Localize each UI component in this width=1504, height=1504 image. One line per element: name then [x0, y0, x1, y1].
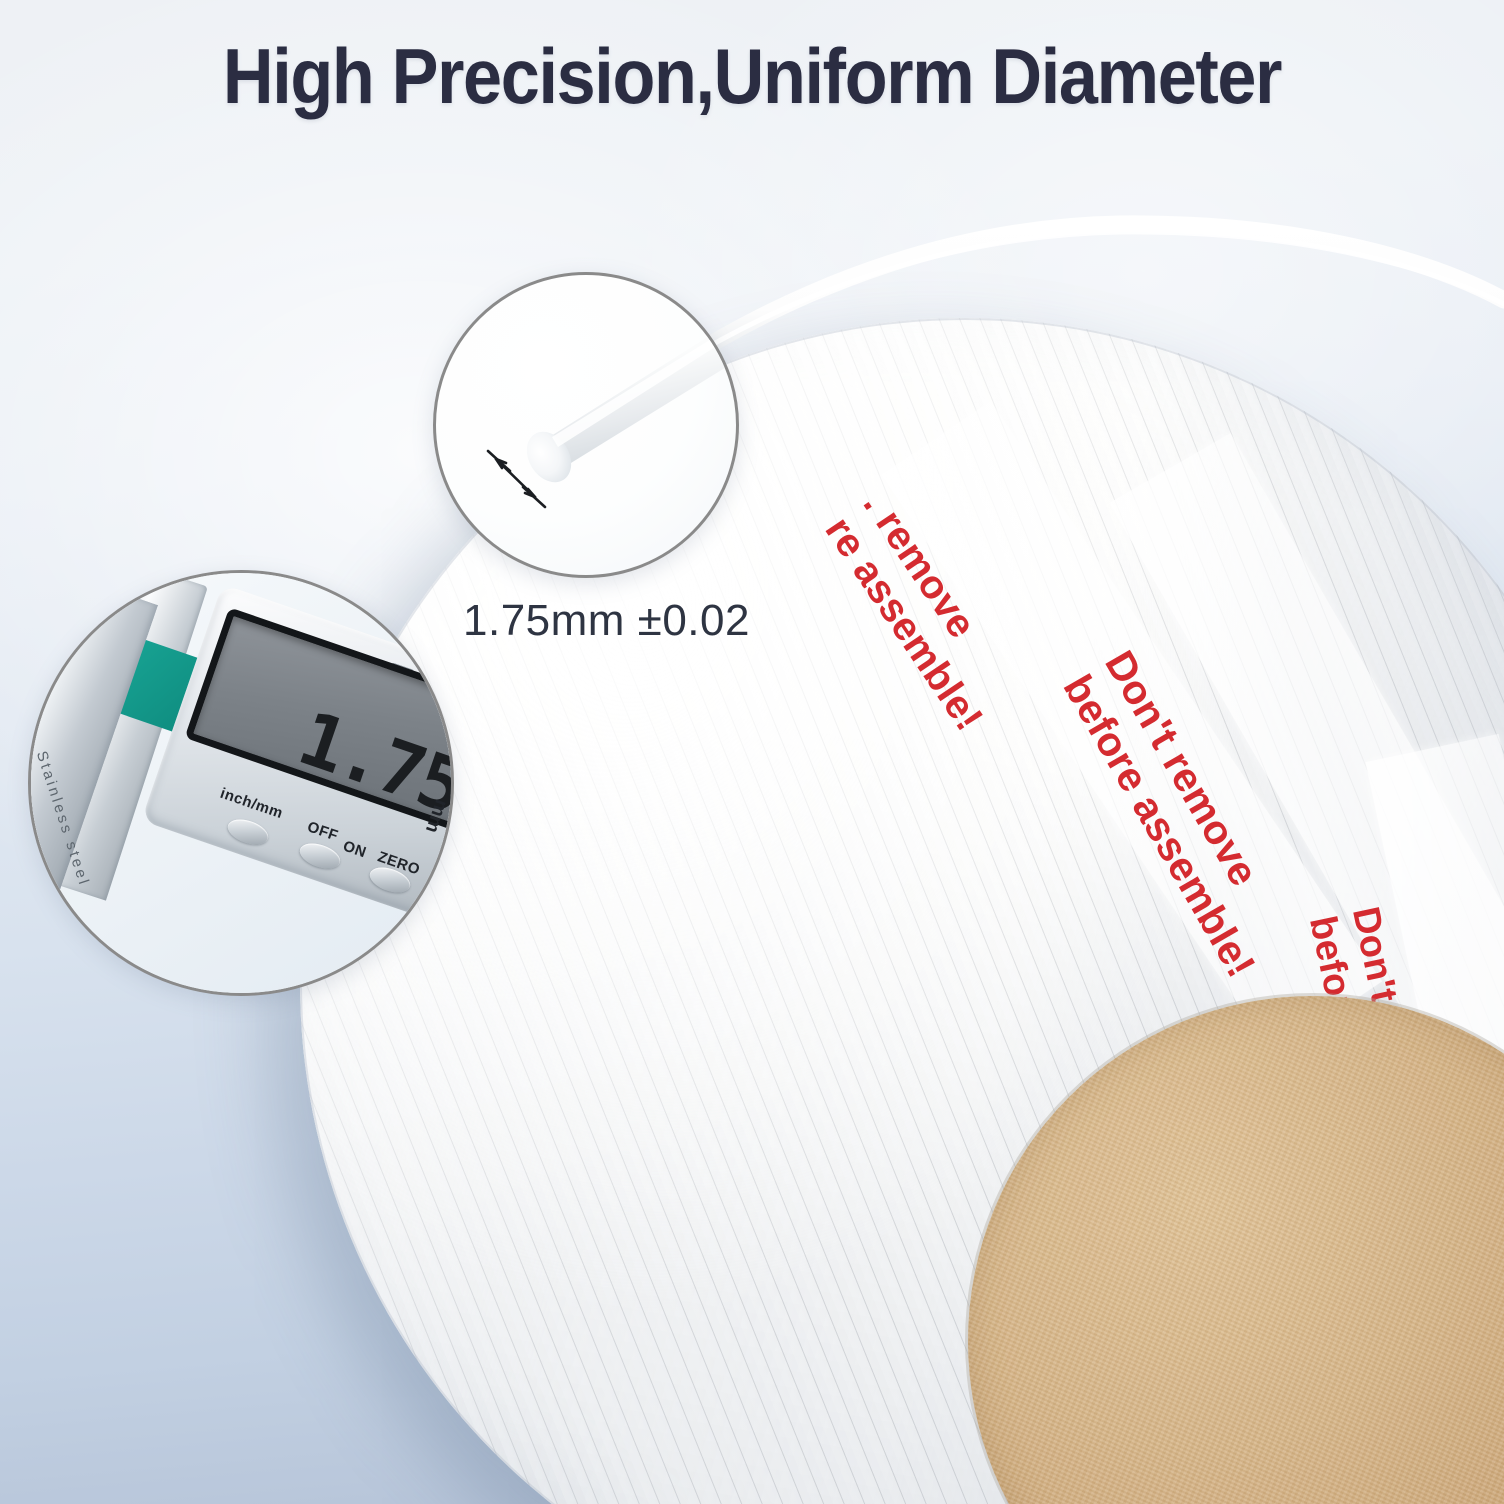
cardboard-grain-texture [968, 996, 1504, 1504]
filament-cross-section-lens [433, 272, 739, 578]
caliper-photo-backdrop: Stainless steel 1.75 mm inch/mm OFF ON Z… [31, 573, 451, 993]
cross-section-illustration [436, 275, 736, 575]
rod-highlight [552, 325, 734, 447]
page-title: High Precision,Uniform Diameter [75, 36, 1429, 117]
product-feature-image: . remove re assemble! Don't remove befor… [0, 0, 1504, 1504]
digital-caliper-lens: Stainless steel 1.75 mm inch/mm OFF ON Z… [28, 570, 454, 996]
diameter-caption: 1.75mm ±0.02 [463, 596, 750, 646]
cardboard-core [968, 996, 1504, 1504]
